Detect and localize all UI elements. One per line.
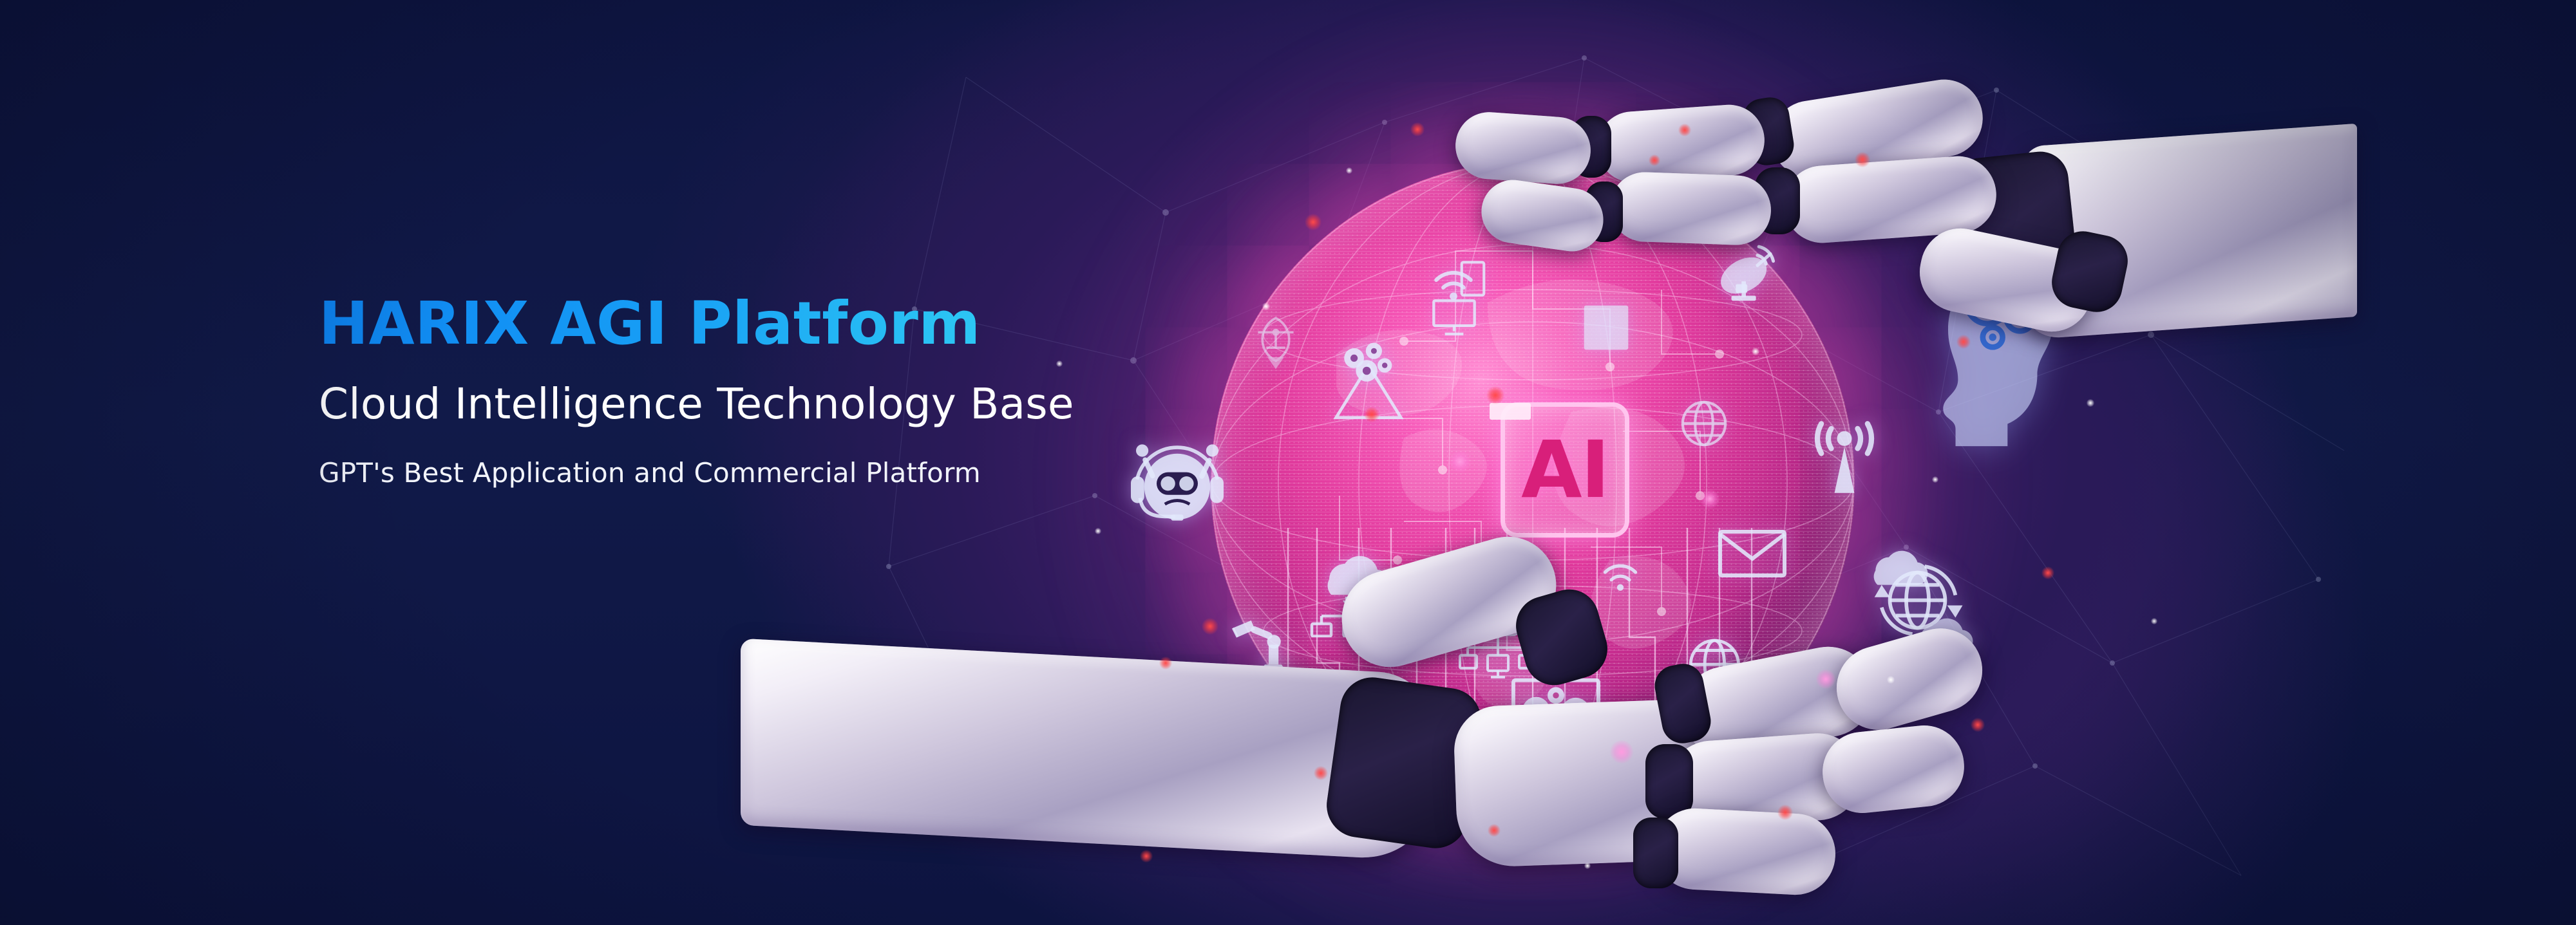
globe-search-icon xyxy=(1674,394,1734,453)
hero-copy: HARIX AGI Platform Cloud Intelligence Te… xyxy=(319,293,1220,490)
hero-banner: AI xyxy=(0,0,2576,925)
ai-chip-label: AI xyxy=(1521,431,1609,509)
particle-red xyxy=(1202,618,1218,635)
particle-white xyxy=(1262,303,1270,310)
particle-pink xyxy=(1816,669,1835,689)
particle-red xyxy=(1486,386,1504,404)
signal-tower-icon xyxy=(1803,417,1886,500)
particle-white xyxy=(1932,476,1938,483)
robot-hand-upper xyxy=(1385,64,2351,399)
particle-red xyxy=(1956,335,1971,349)
particle-pink xyxy=(1449,451,1471,472)
page-subtitle: Cloud Intelligence Technology Base xyxy=(319,381,1220,428)
robot-finger-upper-2b xyxy=(1609,171,1772,247)
particle-pink xyxy=(1700,489,1719,509)
wifi-dot-icon xyxy=(1596,552,1645,592)
particle-red xyxy=(1159,657,1172,669)
particle-red xyxy=(1305,214,1321,230)
page-tagline: GPT's Best Application and Commercial Pl… xyxy=(319,457,1220,489)
robot-fingertip-lower-2 xyxy=(1819,722,1968,817)
envelope-icon xyxy=(1716,527,1788,581)
robot-finger-upper-1b xyxy=(1595,102,1766,185)
particle-white xyxy=(1752,348,1759,355)
robot-forearm-lower xyxy=(741,639,1436,862)
particle-pink xyxy=(1610,740,1633,763)
robot-hand-lower xyxy=(889,618,1996,925)
particle-white xyxy=(2087,399,2094,407)
particle-red xyxy=(1777,805,1793,820)
robot-finger-lower-3 xyxy=(1653,807,1837,897)
particle-red xyxy=(1649,154,1660,166)
particle-white xyxy=(1346,167,1352,174)
particle-white xyxy=(2151,618,2157,624)
ai-chip-badge: AI xyxy=(1501,402,1629,537)
robot-knuckle-lower-2 xyxy=(1645,744,1693,819)
robot-knuckle-lower-3 xyxy=(1633,818,1678,888)
particle-red xyxy=(1678,124,1691,136)
particle-white xyxy=(1095,528,1101,534)
particle-white xyxy=(1887,676,1895,684)
particle-red xyxy=(1971,718,1985,732)
particle-white xyxy=(1584,863,1591,869)
particle-red xyxy=(1488,824,1501,837)
particle-red xyxy=(1364,407,1379,422)
particle-red xyxy=(2041,566,2054,579)
particle-red xyxy=(1410,122,1425,136)
robot-fingertip-upper-2 xyxy=(1477,176,1607,255)
page-title: HARIX AGI Platform xyxy=(319,293,1220,355)
particle-red xyxy=(1855,152,1870,167)
robot-fingertip-upper-1 xyxy=(1454,110,1593,186)
drone-icon xyxy=(1246,312,1305,371)
particle-red xyxy=(1314,766,1328,780)
particle-red xyxy=(1140,850,1153,863)
